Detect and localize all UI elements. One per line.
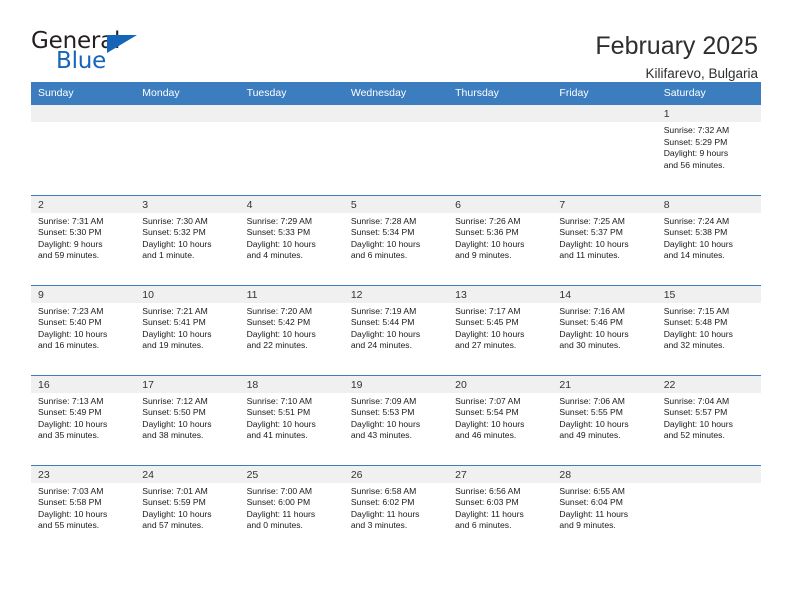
sunrise-text: Sunrise: 7:00 AM [247, 486, 338, 498]
day-details: Sunrise: 7:00 AMSunset: 6:00 PMDaylight:… [240, 483, 344, 532]
day-number: 27 [448, 466, 552, 483]
day-cell-inner: 4Sunrise: 7:29 AMSunset: 5:33 PMDaylight… [240, 196, 344, 285]
calendar-day-cell-empty [448, 105, 552, 195]
sunrise-text: Sunrise: 7:30 AM [142, 216, 233, 228]
daylight-text-line1: Daylight: 11 hours [455, 509, 546, 521]
daylight-text-line2: and 9 minutes. [455, 250, 546, 262]
calendar-day-cell[interactable]: 26Sunrise: 6:58 AMSunset: 6:02 PMDayligh… [344, 465, 448, 555]
daylight-text-line1: Daylight: 10 hours [247, 329, 338, 341]
day-cell-inner: 15Sunrise: 7:15 AMSunset: 5:48 PMDayligh… [657, 286, 761, 375]
day-cell-inner: 21Sunrise: 7:06 AMSunset: 5:55 PMDayligh… [552, 376, 656, 465]
sunrise-text: Sunrise: 7:16 AM [559, 306, 650, 318]
sunset-text: Sunset: 5:42 PM [247, 317, 338, 329]
day-cell-inner: 12Sunrise: 7:19 AMSunset: 5:44 PMDayligh… [344, 286, 448, 375]
sunrise-text: Sunrise: 7:07 AM [455, 396, 546, 408]
weekday-header-sunday: Sunday [31, 82, 135, 105]
sunrise-text: Sunrise: 7:32 AM [664, 125, 755, 137]
day-number: 3 [135, 196, 239, 213]
calendar-day-cell[interactable]: 16Sunrise: 7:13 AMSunset: 5:49 PMDayligh… [31, 375, 135, 465]
day-cell-inner: 3Sunrise: 7:30 AMSunset: 5:32 PMDaylight… [135, 196, 239, 285]
day-number: 17 [135, 376, 239, 393]
calendar-day-cell[interactable]: 9Sunrise: 7:23 AMSunset: 5:40 PMDaylight… [31, 285, 135, 375]
calendar-week-row: 1Sunrise: 7:32 AMSunset: 5:29 PMDaylight… [31, 105, 761, 195]
daylight-text-line2: and 35 minutes. [38, 430, 129, 442]
day-number: 4 [240, 196, 344, 213]
weekday-header-wednesday: Wednesday [344, 82, 448, 105]
sunset-text: Sunset: 5:49 PM [38, 407, 129, 419]
sunset-text: Sunset: 5:44 PM [351, 317, 442, 329]
daylight-text-line2: and 16 minutes. [38, 340, 129, 352]
calendar-day-cell[interactable]: 17Sunrise: 7:12 AMSunset: 5:50 PMDayligh… [135, 375, 239, 465]
daylight-text-line1: Daylight: 10 hours [455, 329, 546, 341]
daylight-text-line2: and 0 minutes. [247, 520, 338, 532]
day-cell-inner: 13Sunrise: 7:17 AMSunset: 5:45 PMDayligh… [448, 286, 552, 375]
day-details: Sunrise: 7:24 AMSunset: 5:38 PMDaylight:… [657, 213, 761, 262]
day-number: 15 [657, 286, 761, 303]
day-cell-inner: 28Sunrise: 6:55 AMSunset: 6:04 PMDayligh… [552, 466, 656, 556]
day-details: Sunrise: 7:32 AMSunset: 5:29 PMDaylight:… [657, 122, 761, 171]
day-details: Sunrise: 7:03 AMSunset: 5:58 PMDaylight:… [31, 483, 135, 532]
title-block: February 2025 Kilifarevo, Bulgaria [595, 30, 758, 81]
daylight-text-line2: and 41 minutes. [247, 430, 338, 442]
daylight-text-line1: Daylight: 11 hours [559, 509, 650, 521]
daylight-text-line1: Daylight: 10 hours [559, 329, 650, 341]
sunset-text: Sunset: 6:04 PM [559, 497, 650, 509]
calendar-day-cell[interactable]: 6Sunrise: 7:26 AMSunset: 5:36 PMDaylight… [448, 195, 552, 285]
sunrise-text: Sunrise: 7:06 AM [559, 396, 650, 408]
calendar-day-cell-empty [657, 465, 761, 555]
daylight-text-line1: Daylight: 10 hours [38, 419, 129, 431]
sunrise-text: Sunrise: 7:31 AM [38, 216, 129, 228]
day-details: Sunrise: 7:31 AMSunset: 5:30 PMDaylight:… [31, 213, 135, 262]
calendar-page: General Blue February 2025 Kilifarevo, B… [0, 0, 792, 612]
sunset-text: Sunset: 6:03 PM [455, 497, 546, 509]
calendar-day-cell-empty [344, 105, 448, 195]
calendar-body: 1Sunrise: 7:32 AMSunset: 5:29 PMDaylight… [31, 105, 761, 555]
calendar-day-cell[interactable]: 1Sunrise: 7:32 AMSunset: 5:29 PMDaylight… [657, 105, 761, 195]
day-details: Sunrise: 7:09 AMSunset: 5:53 PMDaylight:… [344, 393, 448, 442]
daylight-text-line1: Daylight: 10 hours [38, 329, 129, 341]
sunset-text: Sunset: 5:48 PM [664, 317, 755, 329]
day-number: 11 [240, 286, 344, 303]
daylight-text-line1: Daylight: 10 hours [142, 239, 233, 251]
sunset-text: Sunset: 5:29 PM [664, 137, 755, 149]
daylight-text-line1: Daylight: 10 hours [664, 329, 755, 341]
day-cell-inner: 16Sunrise: 7:13 AMSunset: 5:49 PMDayligh… [31, 376, 135, 465]
calendar-day-cell-empty [552, 105, 656, 195]
day-cell-inner [448, 105, 552, 195]
day-number: 10 [135, 286, 239, 303]
calendar-day-cell[interactable]: 4Sunrise: 7:29 AMSunset: 5:33 PMDaylight… [240, 195, 344, 285]
day-cell-inner: 5Sunrise: 7:28 AMSunset: 5:34 PMDaylight… [344, 196, 448, 285]
sunrise-text: Sunrise: 6:55 AM [559, 486, 650, 498]
sunrise-text: Sunrise: 7:20 AM [247, 306, 338, 318]
sunrise-text: Sunrise: 7:10 AM [247, 396, 338, 408]
daylight-text-line2: and 22 minutes. [247, 340, 338, 352]
sunset-text: Sunset: 5:58 PM [38, 497, 129, 509]
day-details: Sunrise: 7:28 AMSunset: 5:34 PMDaylight:… [344, 213, 448, 262]
sunset-text: Sunset: 6:00 PM [247, 497, 338, 509]
calendar-day-cell[interactable]: 28Sunrise: 6:55 AMSunset: 6:04 PMDayligh… [552, 465, 656, 555]
calendar-header-row: Sunday Monday Tuesday Wednesday Thursday… [31, 82, 761, 105]
day-number: 18 [240, 376, 344, 393]
day-details: Sunrise: 7:16 AMSunset: 5:46 PMDaylight:… [552, 303, 656, 352]
sunrise-text: Sunrise: 7:26 AM [455, 216, 546, 228]
daylight-text-line1: Daylight: 10 hours [351, 329, 442, 341]
sunrise-text: Sunrise: 7:24 AM [664, 216, 755, 228]
day-cell-inner: 2Sunrise: 7:31 AMSunset: 5:30 PMDaylight… [31, 196, 135, 285]
day-number [344, 105, 448, 122]
calendar-day-cell-empty [135, 105, 239, 195]
sunrise-text: Sunrise: 7:21 AM [142, 306, 233, 318]
sunrise-text: Sunrise: 7:29 AM [247, 216, 338, 228]
daylight-text-line1: Daylight: 10 hours [664, 419, 755, 431]
daylight-text-line1: Daylight: 11 hours [351, 509, 442, 521]
daylight-text-line1: Daylight: 10 hours [559, 419, 650, 431]
day-cell-inner: 27Sunrise: 6:56 AMSunset: 6:03 PMDayligh… [448, 466, 552, 556]
day-number: 22 [657, 376, 761, 393]
sunrise-text: Sunrise: 7:09 AM [351, 396, 442, 408]
day-details: Sunrise: 7:29 AMSunset: 5:33 PMDaylight:… [240, 213, 344, 262]
day-number: 2 [31, 196, 135, 213]
sunrise-text: Sunrise: 6:56 AM [455, 486, 546, 498]
day-number: 14 [552, 286, 656, 303]
sunrise-text: Sunrise: 7:01 AM [142, 486, 233, 498]
day-details: Sunrise: 7:20 AMSunset: 5:42 PMDaylight:… [240, 303, 344, 352]
day-details: Sunrise: 7:25 AMSunset: 5:37 PMDaylight:… [552, 213, 656, 262]
daylight-text-line1: Daylight: 10 hours [455, 419, 546, 431]
calendar-day-cell[interactable]: 20Sunrise: 7:07 AMSunset: 5:54 PMDayligh… [448, 375, 552, 465]
sunset-text: Sunset: 5:45 PM [455, 317, 546, 329]
day-cell-inner: 26Sunrise: 6:58 AMSunset: 6:02 PMDayligh… [344, 466, 448, 556]
daylight-text-line1: Daylight: 10 hours [247, 239, 338, 251]
day-number: 5 [344, 196, 448, 213]
day-cell-inner: 7Sunrise: 7:25 AMSunset: 5:37 PMDaylight… [552, 196, 656, 285]
calendar-day-cell[interactable]: 10Sunrise: 7:21 AMSunset: 5:41 PMDayligh… [135, 285, 239, 375]
sunset-text: Sunset: 5:51 PM [247, 407, 338, 419]
daylight-text-line2: and 4 minutes. [247, 250, 338, 262]
day-number: 24 [135, 466, 239, 483]
sunset-text: Sunset: 5:32 PM [142, 227, 233, 239]
day-number: 20 [448, 376, 552, 393]
daylight-text-line1: Daylight: 10 hours [142, 509, 233, 521]
weekday-header-tuesday: Tuesday [240, 82, 344, 105]
day-details: Sunrise: 7:13 AMSunset: 5:49 PMDaylight:… [31, 393, 135, 442]
sunrise-text: Sunrise: 7:04 AM [664, 396, 755, 408]
daylight-text-line2: and 38 minutes. [142, 430, 233, 442]
daylight-text-line1: Daylight: 9 hours [664, 148, 755, 160]
calendar-day-cell[interactable]: 25Sunrise: 7:00 AMSunset: 6:00 PMDayligh… [240, 465, 344, 555]
daylight-text-line1: Daylight: 10 hours [559, 239, 650, 251]
day-details: Sunrise: 7:23 AMSunset: 5:40 PMDaylight:… [31, 303, 135, 352]
day-cell-inner [135, 105, 239, 195]
day-number: 28 [552, 466, 656, 483]
daylight-text-line1: Daylight: 10 hours [142, 329, 233, 341]
daylight-text-line2: and 24 minutes. [351, 340, 442, 352]
day-number [31, 105, 135, 122]
sunset-text: Sunset: 5:36 PM [455, 227, 546, 239]
day-details: Sunrise: 7:04 AMSunset: 5:57 PMDaylight:… [657, 393, 761, 442]
day-cell-inner: 14Sunrise: 7:16 AMSunset: 5:46 PMDayligh… [552, 286, 656, 375]
daylight-text-line1: Daylight: 10 hours [351, 239, 442, 251]
daylight-text-line2: and 57 minutes. [142, 520, 233, 532]
day-number: 26 [344, 466, 448, 483]
day-cell-inner: 25Sunrise: 7:00 AMSunset: 6:00 PMDayligh… [240, 466, 344, 556]
calendar-day-cell[interactable]: 7Sunrise: 7:25 AMSunset: 5:37 PMDaylight… [552, 195, 656, 285]
calendar-day-cell[interactable]: 21Sunrise: 7:06 AMSunset: 5:55 PMDayligh… [552, 375, 656, 465]
day-cell-inner: 20Sunrise: 7:07 AMSunset: 5:54 PMDayligh… [448, 376, 552, 465]
sunset-text: Sunset: 5:34 PM [351, 227, 442, 239]
calendar-day-cell[interactable]: 5Sunrise: 7:28 AMSunset: 5:34 PMDaylight… [344, 195, 448, 285]
daylight-text-line2: and 30 minutes. [559, 340, 650, 352]
daylight-text-line2: and 46 minutes. [455, 430, 546, 442]
daylight-text-line2: and 49 minutes. [559, 430, 650, 442]
day-number: 25 [240, 466, 344, 483]
day-details: Sunrise: 7:19 AMSunset: 5:44 PMDaylight:… [344, 303, 448, 352]
day-number: 1 [657, 105, 761, 122]
sunrise-text: Sunrise: 7:28 AM [351, 216, 442, 228]
day-number: 21 [552, 376, 656, 393]
daylight-text-line2: and 6 minutes. [455, 520, 546, 532]
sunrise-text: Sunrise: 7:03 AM [38, 486, 129, 498]
day-number [552, 105, 656, 122]
calendar-day-cell[interactable]: 27Sunrise: 6:56 AMSunset: 6:03 PMDayligh… [448, 465, 552, 555]
day-number: 9 [31, 286, 135, 303]
sunrise-text: Sunrise: 6:58 AM [351, 486, 442, 498]
calendar-day-cell[interactable]: 2Sunrise: 7:31 AMSunset: 5:30 PMDaylight… [31, 195, 135, 285]
general-blue-logo[interactable]: General Blue [31, 30, 143, 80]
day-cell-inner [31, 105, 135, 195]
sunset-text: Sunset: 5:59 PM [142, 497, 233, 509]
sunset-text: Sunset: 5:46 PM [559, 317, 650, 329]
calendar-day-cell[interactable]: 8Sunrise: 7:24 AMSunset: 5:38 PMDaylight… [657, 195, 761, 285]
calendar-week-row: 16Sunrise: 7:13 AMSunset: 5:49 PMDayligh… [31, 375, 761, 465]
day-number [240, 105, 344, 122]
day-details: Sunrise: 7:21 AMSunset: 5:41 PMDaylight:… [135, 303, 239, 352]
day-details: Sunrise: 7:15 AMSunset: 5:48 PMDaylight:… [657, 303, 761, 352]
daylight-text-line1: Daylight: 10 hours [351, 419, 442, 431]
daylight-text-line2: and 11 minutes. [559, 250, 650, 262]
day-details: Sunrise: 7:06 AMSunset: 5:55 PMDaylight:… [552, 393, 656, 442]
sunrise-text: Sunrise: 7:17 AM [455, 306, 546, 318]
calendar-day-cell-empty [240, 105, 344, 195]
day-cell-inner: 9Sunrise: 7:23 AMSunset: 5:40 PMDaylight… [31, 286, 135, 375]
sunrise-text: Sunrise: 7:12 AM [142, 396, 233, 408]
day-details: Sunrise: 7:01 AMSunset: 5:59 PMDaylight:… [135, 483, 239, 532]
calendar-week-row: 2Sunrise: 7:31 AMSunset: 5:30 PMDaylight… [31, 195, 761, 285]
day-number [448, 105, 552, 122]
day-number: 12 [344, 286, 448, 303]
sunset-text: Sunset: 5:54 PM [455, 407, 546, 419]
day-details: Sunrise: 6:56 AMSunset: 6:03 PMDaylight:… [448, 483, 552, 532]
calendar-day-cell[interactable]: 24Sunrise: 7:01 AMSunset: 5:59 PMDayligh… [135, 465, 239, 555]
daylight-text-line2: and 6 minutes. [351, 250, 442, 262]
day-details: Sunrise: 7:26 AMSunset: 5:36 PMDaylight:… [448, 213, 552, 262]
calendar-day-cell[interactable]: 19Sunrise: 7:09 AMSunset: 5:53 PMDayligh… [344, 375, 448, 465]
sunset-text: Sunset: 5:53 PM [351, 407, 442, 419]
calendar-week-row: 23Sunrise: 7:03 AMSunset: 5:58 PMDayligh… [31, 465, 761, 555]
daylight-text-line1: Daylight: 10 hours [38, 509, 129, 521]
day-details: Sunrise: 7:07 AMSunset: 5:54 PMDaylight:… [448, 393, 552, 442]
day-cell-inner: 18Sunrise: 7:10 AMSunset: 5:51 PMDayligh… [240, 376, 344, 465]
daylight-text-line2: and 59 minutes. [38, 250, 129, 262]
page-header: General Blue February 2025 Kilifarevo, B… [0, 0, 792, 74]
sunset-text: Sunset: 5:33 PM [247, 227, 338, 239]
day-details: Sunrise: 6:58 AMSunset: 6:02 PMDaylight:… [344, 483, 448, 532]
daylight-text-line1: Daylight: 10 hours [664, 239, 755, 251]
day-cell-inner [344, 105, 448, 195]
calendar-day-cell[interactable]: 18Sunrise: 7:10 AMSunset: 5:51 PMDayligh… [240, 375, 344, 465]
day-details: Sunrise: 6:55 AMSunset: 6:04 PMDaylight:… [552, 483, 656, 532]
day-number: 6 [448, 196, 552, 213]
sunset-text: Sunset: 5:38 PM [664, 227, 755, 239]
day-number [657, 466, 761, 483]
sunset-text: Sunset: 5:50 PM [142, 407, 233, 419]
sunset-text: Sunset: 5:37 PM [559, 227, 650, 239]
calendar-week-row: 9Sunrise: 7:23 AMSunset: 5:40 PMDaylight… [31, 285, 761, 375]
day-cell-inner: 10Sunrise: 7:21 AMSunset: 5:41 PMDayligh… [135, 286, 239, 375]
daylight-text-line2: and 19 minutes. [142, 340, 233, 352]
day-details: Sunrise: 7:12 AMSunset: 5:50 PMDaylight:… [135, 393, 239, 442]
day-number: 19 [344, 376, 448, 393]
daylight-text-line2: and 55 minutes. [38, 520, 129, 532]
daylight-text-line2: and 9 minutes. [559, 520, 650, 532]
sunrise-text: Sunrise: 7:23 AM [38, 306, 129, 318]
day-cell-inner: 8Sunrise: 7:24 AMSunset: 5:38 PMDaylight… [657, 196, 761, 285]
daylight-text-line1: Daylight: 10 hours [455, 239, 546, 251]
sunset-text: Sunset: 5:40 PM [38, 317, 129, 329]
daylight-text-line1: Daylight: 11 hours [247, 509, 338, 521]
weekday-header-friday: Friday [552, 82, 656, 105]
sunset-text: Sunset: 6:02 PM [351, 497, 442, 509]
day-cell-inner [552, 105, 656, 195]
calendar-day-cell[interactable]: 23Sunrise: 7:03 AMSunset: 5:58 PMDayligh… [31, 465, 135, 555]
daylight-text-line2: and 3 minutes. [351, 520, 442, 532]
daylight-text-line2: and 27 minutes. [455, 340, 546, 352]
sunset-text: Sunset: 5:41 PM [142, 317, 233, 329]
daylight-text-line2: and 14 minutes. [664, 250, 755, 262]
daylight-text-line1: Daylight: 9 hours [38, 239, 129, 251]
page-title: February 2025 [595, 32, 758, 61]
day-cell-inner: 19Sunrise: 7:09 AMSunset: 5:53 PMDayligh… [344, 376, 448, 465]
sunrise-text: Sunrise: 7:13 AM [38, 396, 129, 408]
day-cell-inner: 23Sunrise: 7:03 AMSunset: 5:58 PMDayligh… [31, 466, 135, 556]
calendar-day-cell[interactable]: 11Sunrise: 7:20 AMSunset: 5:42 PMDayligh… [240, 285, 344, 375]
day-details: Sunrise: 7:10 AMSunset: 5:51 PMDaylight:… [240, 393, 344, 442]
calendar-day-cell[interactable]: 12Sunrise: 7:19 AMSunset: 5:44 PMDayligh… [344, 285, 448, 375]
sunrise-sunset-calendar: Sunday Monday Tuesday Wednesday Thursday… [31, 82, 761, 555]
triangle-icon [107, 35, 137, 53]
day-cell-inner: 1Sunrise: 7:32 AMSunset: 5:29 PMDaylight… [657, 105, 761, 195]
day-number: 8 [657, 196, 761, 213]
day-cell-inner: 6Sunrise: 7:26 AMSunset: 5:36 PMDaylight… [448, 196, 552, 285]
daylight-text-line2: and 32 minutes. [664, 340, 755, 352]
location-subtitle: Kilifarevo, Bulgaria [595, 66, 758, 81]
weekday-header-saturday: Saturday [657, 82, 761, 105]
day-details: Sunrise: 7:17 AMSunset: 5:45 PMDaylight:… [448, 303, 552, 352]
calendar-day-cell[interactable]: 13Sunrise: 7:17 AMSunset: 5:45 PMDayligh… [448, 285, 552, 375]
sunrise-text: Sunrise: 7:19 AM [351, 306, 442, 318]
calendar-day-cell-empty [31, 105, 135, 195]
daylight-text-line2: and 1 minute. [142, 250, 233, 262]
sunset-text: Sunset: 5:57 PM [664, 407, 755, 419]
sunrise-text: Sunrise: 7:15 AM [664, 306, 755, 318]
day-details: Sunrise: 7:30 AMSunset: 5:32 PMDaylight:… [135, 213, 239, 262]
day-number [135, 105, 239, 122]
day-number: 13 [448, 286, 552, 303]
calendar-day-cell[interactable]: 15Sunrise: 7:15 AMSunset: 5:48 PMDayligh… [657, 285, 761, 375]
day-cell-inner [240, 105, 344, 195]
day-number: 16 [31, 376, 135, 393]
daylight-text-line2: and 56 minutes. [664, 160, 755, 172]
sunrise-text: Sunrise: 7:25 AM [559, 216, 650, 228]
day-cell-inner: 24Sunrise: 7:01 AMSunset: 5:59 PMDayligh… [135, 466, 239, 556]
daylight-text-line1: Daylight: 10 hours [142, 419, 233, 431]
sunset-text: Sunset: 5:55 PM [559, 407, 650, 419]
logo-text-blue: Blue [56, 50, 143, 73]
daylight-text-line2: and 52 minutes. [664, 430, 755, 442]
calendar-day-cell[interactable]: 14Sunrise: 7:16 AMSunset: 5:46 PMDayligh… [552, 285, 656, 375]
day-number: 23 [31, 466, 135, 483]
calendar-day-cell[interactable]: 3Sunrise: 7:30 AMSunset: 5:32 PMDaylight… [135, 195, 239, 285]
day-number: 7 [552, 196, 656, 213]
day-cell-inner [657, 466, 761, 556]
day-cell-inner: 11Sunrise: 7:20 AMSunset: 5:42 PMDayligh… [240, 286, 344, 375]
weekday-header-thursday: Thursday [448, 82, 552, 105]
sunset-text: Sunset: 5:30 PM [38, 227, 129, 239]
day-cell-inner: 17Sunrise: 7:12 AMSunset: 5:50 PMDayligh… [135, 376, 239, 465]
weekday-header-monday: Monday [135, 82, 239, 105]
daylight-text-line2: and 43 minutes. [351, 430, 442, 442]
day-cell-inner: 22Sunrise: 7:04 AMSunset: 5:57 PMDayligh… [657, 376, 761, 465]
daylight-text-line1: Daylight: 10 hours [247, 419, 338, 431]
calendar-day-cell[interactable]: 22Sunrise: 7:04 AMSunset: 5:57 PMDayligh… [657, 375, 761, 465]
